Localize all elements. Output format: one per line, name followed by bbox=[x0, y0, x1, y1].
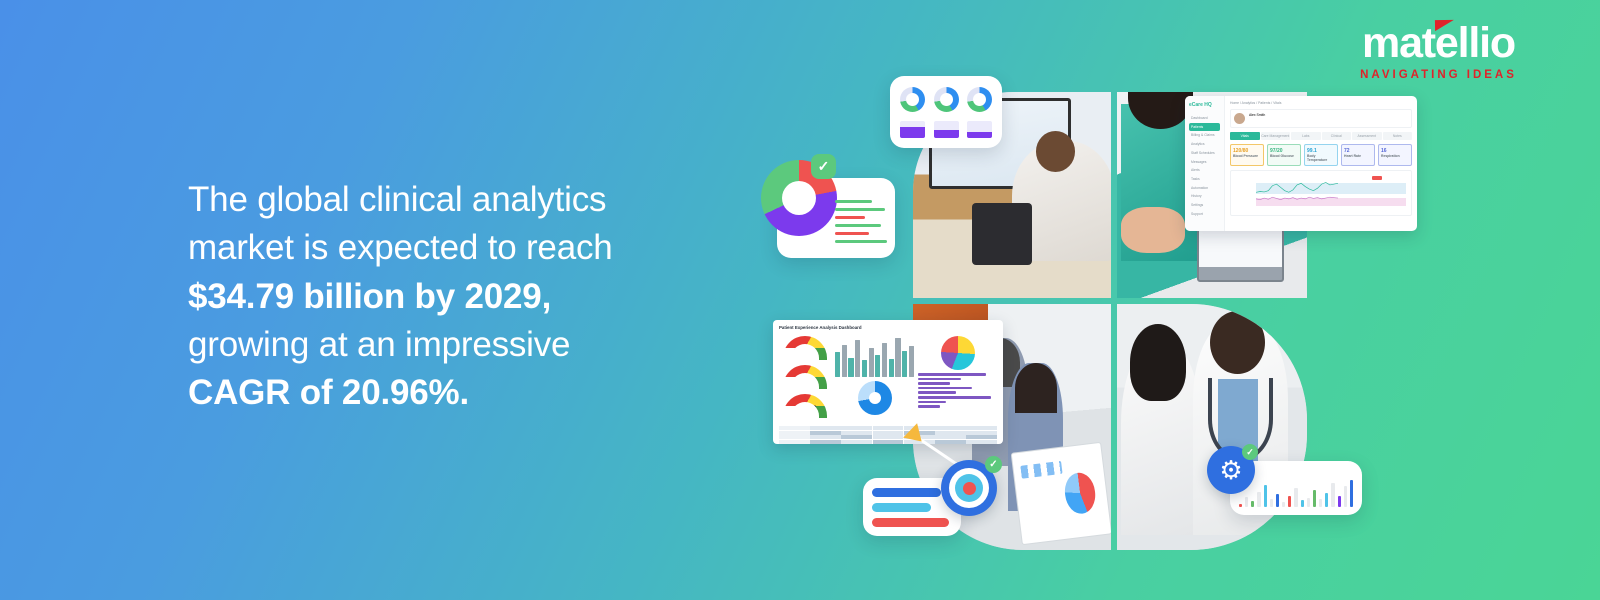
dashboard-tabs[interactable]: Vitals Care Management Labs Clinical Ass… bbox=[1230, 132, 1412, 140]
hair bbox=[1210, 311, 1265, 374]
check-badge-icon: ✓ bbox=[811, 154, 836, 179]
tab-clinical[interactable]: Clinical bbox=[1322, 132, 1352, 140]
vitals-dashboard-mock[interactable]: eCare HQ Dashboard Patients Billing & Cl… bbox=[1185, 96, 1417, 231]
trend-sparkline bbox=[1256, 180, 1338, 205]
sidebar-item-patients[interactable]: Patients bbox=[1189, 123, 1220, 131]
vital-label: Blood Pressure bbox=[1233, 154, 1261, 158]
tab-vitals[interactable]: Vitals bbox=[1230, 132, 1260, 140]
clinician-woman bbox=[1121, 343, 1201, 535]
nurse-hand bbox=[1121, 207, 1186, 252]
pxd-gauges-column bbox=[779, 333, 831, 423]
tab-labs[interactable]: Labs bbox=[1291, 132, 1321, 140]
patient-distribution-pie bbox=[941, 336, 975, 370]
clipboard-report bbox=[1011, 441, 1111, 545]
patient-name: Alex Smith bbox=[1249, 113, 1265, 124]
headline-market-value: $34.79 billion by 2029, bbox=[188, 273, 728, 321]
progress-rings-card bbox=[890, 76, 1002, 148]
gear-icon: ⚙ ✓ bbox=[1207, 446, 1255, 494]
sidebar-item-tasks[interactable]: Tasks bbox=[1189, 175, 1220, 183]
avatar bbox=[1234, 113, 1245, 124]
sidebar-item-staff-schedules[interactable]: Staff Schedules bbox=[1189, 149, 1220, 157]
sidebar-item-support[interactable]: Support bbox=[1189, 210, 1220, 218]
patient-feedback-by-type-donut bbox=[858, 381, 892, 415]
progress-ring-icon bbox=[934, 87, 959, 112]
sidebar-item-alerts[interactable]: Alerts bbox=[1189, 166, 1220, 174]
vitals-trend-chart bbox=[1230, 170, 1412, 216]
pxd-middle-column bbox=[835, 333, 914, 423]
pxd-right-column bbox=[918, 333, 997, 423]
bars-row bbox=[900, 121, 992, 138]
headline-cagr: CAGR of 20.96%. bbox=[188, 369, 728, 417]
sidebar-item-messages[interactable]: Messages bbox=[1189, 157, 1220, 165]
sidebar-item-dashboard[interactable]: Dashboard bbox=[1189, 114, 1220, 122]
report-pie-chart bbox=[1063, 471, 1098, 515]
dashboard-logo: eCare HQ bbox=[1189, 102, 1220, 108]
vital-card-blood-glucose[interactable]: 97/20 Blood Glucose bbox=[1267, 144, 1301, 166]
target-ring-2 bbox=[949, 468, 989, 508]
gauge-average-review-score bbox=[783, 336, 827, 360]
headline-line-1: The global clinical analytics bbox=[188, 176, 728, 224]
alert-marker bbox=[1372, 176, 1382, 180]
vital-label: Respiration bbox=[1381, 154, 1409, 158]
image-collage: eCare HQ Dashboard Patients Billing & Cl… bbox=[855, 78, 1335, 564]
tab-care-management[interactable]: Care Management bbox=[1261, 132, 1291, 140]
progress-ring-icon bbox=[967, 87, 992, 112]
report-lines bbox=[835, 200, 887, 248]
hair bbox=[1130, 324, 1186, 401]
target-icon: ✓ bbox=[941, 460, 997, 516]
progress-ring-icon bbox=[900, 87, 925, 112]
vital-card-respiration[interactable]: 16 Respiration bbox=[1378, 144, 1412, 166]
sidebar-item-settings[interactable]: Settings bbox=[1189, 201, 1220, 209]
headline-line-2: market is expected to reach bbox=[188, 224, 728, 272]
check-badge-icon: ✓ bbox=[985, 456, 1002, 473]
satisfaction-by-department-chart bbox=[835, 333, 914, 377]
headline-block: The global clinical analytics market is … bbox=[188, 176, 728, 417]
gauge-facility-rating bbox=[783, 394, 827, 418]
target-ring-3 bbox=[955, 474, 983, 502]
average-visit-length-table bbox=[779, 426, 997, 444]
pxd-grid bbox=[779, 333, 997, 423]
headline-line-4: growing at an impressive bbox=[188, 321, 728, 369]
patient-experience-dashboard-mock[interactable]: Patient Experience Analysis Dashboard bbox=[773, 320, 1003, 444]
patient-summary-card[interactable]: Alex Smith bbox=[1230, 109, 1412, 128]
vitals-row: 120/80 Blood Pressure 97/20 Blood Glucos… bbox=[1230, 144, 1412, 166]
brand-wordmark: matellio bbox=[1362, 22, 1515, 65]
tab-notes[interactable]: Notes bbox=[1383, 132, 1413, 140]
ratings-by-waiting-experience-bars bbox=[918, 391, 997, 407]
vital-label: Blood Glucose bbox=[1270, 154, 1298, 158]
vital-card-body-temperature[interactable]: 99.1 Body Temperature bbox=[1304, 144, 1338, 166]
progress-bar-cell bbox=[934, 121, 959, 138]
brand-logo[interactable]: matellio NAVIGATING IDEAS bbox=[1351, 22, 1526, 81]
progress-bar-cell bbox=[900, 121, 925, 138]
report-icon-row bbox=[1020, 460, 1062, 478]
vital-card-blood-pressure[interactable]: 120/80 Blood Pressure bbox=[1230, 144, 1264, 166]
check-badge-icon: ✓ bbox=[1242, 444, 1258, 460]
vital-label: Body Temperature bbox=[1307, 154, 1335, 162]
progress-bar-cell bbox=[967, 121, 992, 138]
sidebar-item-billing[interactable]: Billing & Claims bbox=[1189, 131, 1220, 139]
sidebar-item-automation[interactable]: Automation bbox=[1189, 184, 1220, 192]
brand-tagline: NAVIGATING IDEAS bbox=[1351, 69, 1526, 81]
donut-chart-card: ✓ bbox=[777, 178, 895, 258]
tab-assessment[interactable]: Assessment bbox=[1352, 132, 1382, 140]
vital-label: Heart Rate bbox=[1344, 154, 1372, 158]
review-sentiment-bars bbox=[918, 373, 997, 389]
target-bullseye bbox=[963, 482, 976, 495]
dashboard-main: Home / Analytics / Patients / Vitals Ale… bbox=[1225, 96, 1417, 231]
hair bbox=[1015, 363, 1057, 413]
tablet-device bbox=[972, 203, 1031, 265]
sidebar-item-history[interactable]: History bbox=[1189, 192, 1220, 200]
logo-triangle-icon bbox=[1435, 20, 1454, 31]
gauge-staff-rating bbox=[783, 365, 827, 389]
vital-card-heart-rate[interactable]: 72 Heart Rate bbox=[1341, 144, 1375, 166]
sidebar-item-analytics[interactable]: Analytics bbox=[1189, 140, 1220, 148]
rings-row bbox=[900, 87, 992, 112]
breadcrumb[interactable]: Home / Analytics / Patients / Vitals bbox=[1230, 101, 1412, 105]
dashboard-sidebar: eCare HQ Dashboard Patients Billing & Cl… bbox=[1185, 96, 1225, 231]
pxd-title: Patient Experience Analysis Dashboard bbox=[779, 325, 997, 330]
